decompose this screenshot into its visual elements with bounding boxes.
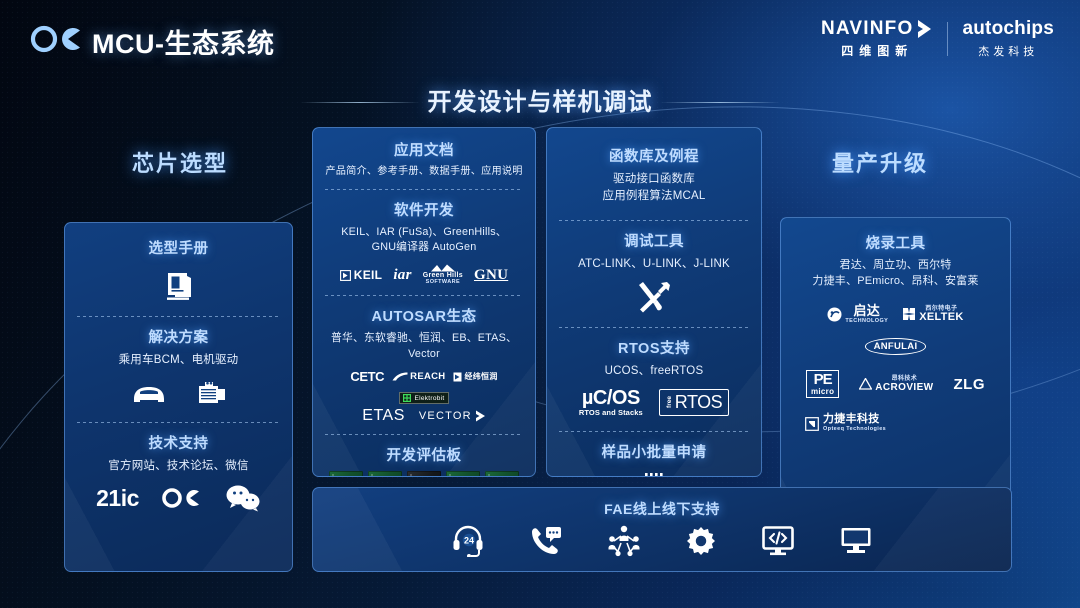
divider bbox=[559, 220, 749, 221]
logo-vector: VECTOR bbox=[419, 410, 486, 422]
logo-iar: iar bbox=[393, 267, 411, 284]
logo-21ic: 21ic bbox=[96, 485, 139, 512]
divider bbox=[325, 189, 523, 190]
logo-keil-label: KEIL bbox=[354, 269, 383, 282]
reach-mark-icon bbox=[392, 372, 408, 381]
logo-vector-label: VECTOR bbox=[419, 410, 472, 422]
block-title: RTOS支持 bbox=[557, 337, 751, 358]
logo-reach-label: REACH bbox=[410, 371, 445, 382]
opteeq-mark-icon bbox=[805, 417, 819, 431]
banner-line-left bbox=[300, 102, 420, 103]
logo-anfulai: ANFULAI bbox=[865, 338, 927, 355]
vector-chevron-icon bbox=[475, 410, 486, 422]
block-dev-boards: 开发评估板 bbox=[313, 444, 535, 477]
fae-icon-group: 24 bbox=[313, 525, 1011, 557]
navinfo-logo-cn: 四维图新 bbox=[821, 42, 934, 59]
logo-ucos: µC/OS RTOS and Stacks bbox=[579, 388, 643, 417]
logo-qida-label: 启达 bbox=[853, 304, 880, 318]
vendor-logo-row-2: PE micro 昂科技术 ACROVIEW ZLG bbox=[791, 370, 1000, 398]
block-function-library: 函数库及例程 驱动接口函数库 应用例程算法MCAL bbox=[547, 128, 761, 204]
svg-text:24: 24 bbox=[464, 536, 474, 546]
panel-content: 烧录工具 君达、周立功、西尔特 力捷丰、PEmicro、昂科、安富莱 启达 TE… bbox=[781, 218, 1010, 433]
block-title: 样品小批量申请 bbox=[557, 441, 751, 462]
slide-canvas: MCU-生态系统 NAVINFO 四维图新 autochips 杰发科技 开发设… bbox=[0, 0, 1080, 608]
block-title: 软件开发 bbox=[323, 199, 525, 220]
panel-content: 函数库及例程 驱动接口函数库 应用例程算法MCAL 调试工具 ATC-LINK、… bbox=[547, 128, 761, 477]
block-title: 烧录工具 bbox=[791, 232, 1000, 253]
dev-board-row bbox=[329, 471, 519, 477]
block-subtitle: 君达、周立功、西尔特 力捷丰、PEmicro、昂科、安富莱 bbox=[791, 258, 1000, 290]
divider bbox=[77, 422, 280, 423]
logo-acroview: 昂科技术 ACROVIEW bbox=[859, 375, 933, 393]
divider bbox=[559, 327, 749, 328]
support-logo-group: 21ic bbox=[75, 484, 282, 512]
partner-logos: NAVINFO 四维图新 autochips 杰发科技 bbox=[821, 18, 1054, 59]
icon-group bbox=[557, 281, 751, 313]
block-title: 解决方案 bbox=[75, 326, 282, 347]
slide-header: MCU-生态系统 NAVINFO 四维图新 autochips 杰发科技 bbox=[0, 0, 1080, 78]
page-title: MCU-生态系统 bbox=[92, 22, 274, 61]
software-logo-group: KEIL iar Green Hills SOFTWARE GNU bbox=[323, 264, 525, 286]
icon-group bbox=[557, 471, 751, 477]
dev-board-thumb bbox=[329, 471, 363, 477]
panel-content: 应用文档 产品简介、参考手册、数据手册、应用说明 软件开发 KEIL、IAR (… bbox=[313, 128, 535, 477]
keil-mark-icon bbox=[340, 270, 351, 281]
logo-gnu: GNU bbox=[474, 267, 508, 284]
code-monitor-icon bbox=[762, 526, 794, 556]
block-subtitle: 驱动接口函数库 应用例程算法MCAL bbox=[557, 171, 751, 204]
block-subtitle: ATC-LINK、U-LINK、J-LINK bbox=[557, 256, 751, 273]
acroview-mark-icon bbox=[859, 378, 872, 390]
logo-pemicro: PE micro bbox=[806, 370, 839, 398]
qida-mark-icon bbox=[827, 307, 842, 322]
logo-reach: REACH bbox=[392, 371, 445, 382]
panel-content: 选型手册 解决方案 乘用车BCM、电机驱动 bbox=[65, 223, 292, 512]
logo-elektrobit: Elektrobit bbox=[399, 392, 448, 404]
greenhills-mountain-icon bbox=[430, 264, 456, 272]
desktop-icon bbox=[840, 526, 872, 556]
logo-zlg: ZLG bbox=[954, 376, 986, 393]
tools-icon bbox=[637, 281, 671, 313]
block-title: 应用文档 bbox=[323, 139, 525, 160]
phone-chat-icon bbox=[530, 526, 562, 556]
logo-hirain-label: 经纬恒润 bbox=[464, 371, 497, 382]
logo-greenhills: Green Hills SOFTWARE bbox=[423, 264, 463, 286]
vendor-logo-row-3: 力捷丰科技 Opteeq Technologies bbox=[791, 414, 1000, 432]
elektrobit-mark-icon bbox=[403, 394, 411, 402]
logo-xeltek: 西尔特电子 XELTEK bbox=[902, 305, 963, 324]
logo-opteeq: 力捷丰科技 Opteeq Technologies bbox=[805, 414, 886, 432]
logo-oc-icon bbox=[161, 486, 203, 510]
logo-divider bbox=[947, 22, 948, 56]
navinfo-logo: NAVINFO 四维图新 bbox=[821, 18, 934, 59]
block-tech-support: 技术支持 官方网站、技术论坛、微信 21ic bbox=[65, 432, 292, 513]
chevron-right-icon bbox=[916, 19, 933, 39]
block-subtitle: 产品简介、参考手册、数据手册、应用说明 bbox=[323, 165, 525, 180]
oc-logo-icon bbox=[28, 24, 86, 54]
icon-group bbox=[75, 268, 282, 304]
banner-line-right bbox=[660, 102, 780, 103]
dev-board-thumb bbox=[407, 471, 441, 477]
vendor-logo-row-1: 启达 TECHNOLOGY 西尔特电子 XELTEK ANFULAI bbox=[791, 304, 1000, 355]
banner-title: 开发设计与样机调试 bbox=[428, 82, 653, 117]
panel-chip-selection: 选型手册 解决方案 乘用车BCM、电机驱动 bbox=[64, 222, 293, 572]
panel-fae-support: FAE线上线下支持 24 bbox=[312, 487, 1012, 572]
fae-title: FAE线上线下支持 bbox=[313, 488, 1011, 519]
block-software-development: 软件开发 KEIL、IAR (FuSa)、GreenHills、 GNU编译器 … bbox=[313, 199, 535, 286]
block-title: 开发评估板 bbox=[323, 444, 525, 465]
block-application-docs: 应用文档 产品简介、参考手册、数据手册、应用说明 bbox=[313, 128, 535, 180]
block-title: AUTOSAR生态 bbox=[323, 305, 525, 326]
car-icon bbox=[129, 379, 169, 407]
section-heading-mass-production: 量产升级 bbox=[832, 146, 928, 178]
navinfo-logo-en: NAVINFO bbox=[821, 18, 914, 40]
divider bbox=[325, 295, 523, 296]
dev-board-thumb bbox=[368, 471, 402, 477]
dev-board-gallery bbox=[323, 471, 525, 477]
block-debug-tools: 调试工具 ATC-LINK、U-LINK、J-LINK bbox=[547, 230, 761, 313]
divider bbox=[325, 434, 523, 435]
block-title: 技术支持 bbox=[75, 432, 282, 453]
block-selection-manual: 选型手册 bbox=[65, 223, 292, 304]
divider bbox=[559, 431, 749, 432]
block-autosar: AUTOSAR生态 普华、东软睿驰、恒润、EB、ETAS、Vector CETC… bbox=[313, 305, 535, 425]
manual-book-icon bbox=[161, 268, 197, 304]
autosar-logo-group: CETC REACH 经纬恒润 bbox=[323, 369, 525, 404]
block-subtitle: 乘用车BCM、电机驱动 bbox=[75, 352, 282, 369]
motor-icon bbox=[195, 378, 229, 408]
network-people-icon bbox=[608, 525, 640, 557]
block-title: 调试工具 bbox=[557, 230, 751, 251]
xeltek-mark-icon bbox=[902, 307, 916, 321]
block-title: 选型手册 bbox=[75, 237, 282, 258]
section-heading-chip-selection: 芯片选型 bbox=[132, 146, 228, 178]
block-sample-request: 样品小批量申请 bbox=[547, 441, 761, 477]
hirain-mark-icon bbox=[453, 372, 462, 382]
block-subtitle: 官方网站、技术论坛、微信 bbox=[75, 458, 282, 475]
block-programming-tools: 烧录工具 君达、周立功、西尔特 力捷丰、PEmicro、昂科、安富莱 启达 TE… bbox=[781, 218, 1010, 433]
logo-etas: ETAS bbox=[362, 407, 405, 425]
block-subtitle: UCOS、freeRTOS bbox=[557, 363, 751, 380]
autochips-logo-en: autochips bbox=[962, 18, 1054, 40]
logo-elektrobit-label: Elektrobit bbox=[414, 395, 444, 402]
rtos-logo-group: µC/OS RTOS and Stacks free RTOS bbox=[557, 388, 751, 417]
logo-hirain: 经纬恒润 bbox=[453, 371, 497, 382]
gear-icon bbox=[686, 526, 716, 556]
autochips-logo: autochips 杰发科技 bbox=[962, 18, 1054, 59]
wechat-icon bbox=[225, 484, 261, 512]
divider bbox=[77, 316, 280, 317]
icon-group bbox=[75, 378, 282, 408]
chip-icon bbox=[634, 471, 674, 477]
block-solution: 解决方案 乘用车BCM、电机驱动 bbox=[65, 326, 292, 408]
autosar-logo-group-2: ETAS VECTOR bbox=[323, 407, 525, 425]
dev-board-thumb bbox=[485, 471, 519, 477]
autochips-logo-cn: 杰发科技 bbox=[962, 43, 1054, 59]
block-subtitle: 普华、东软睿驰、恒润、EB、ETAS、Vector bbox=[323, 331, 525, 362]
center-banner: 开发设计与样机调试 bbox=[0, 80, 1080, 120]
logo-qida: 启达 TECHNOLOGY bbox=[827, 304, 888, 324]
logo-keil: KEIL bbox=[340, 269, 383, 282]
dev-board-thumb bbox=[446, 471, 480, 477]
panel-content: FAE线上线下支持 24 bbox=[313, 488, 1011, 557]
logo-freertos: free RTOS bbox=[659, 389, 729, 416]
panel-development-docs: 应用文档 产品简介、参考手册、数据手册、应用说明 软件开发 KEIL、IAR (… bbox=[312, 127, 536, 477]
block-subtitle: KEIL、IAR (FuSa)、GreenHills、 GNU编译器 AutoG… bbox=[323, 225, 525, 256]
headset-24-icon: 24 bbox=[452, 525, 484, 557]
panel-libraries-debug: 函数库及例程 驱动接口函数库 应用例程算法MCAL 调试工具 ATC-LINK、… bbox=[546, 127, 762, 477]
logo-cetc: CETC bbox=[350, 369, 384, 384]
block-rtos-support: RTOS支持 UCOS、freeRTOS µC/OS RTOS and Stac… bbox=[547, 337, 761, 417]
block-title: 函数库及例程 bbox=[557, 145, 751, 166]
